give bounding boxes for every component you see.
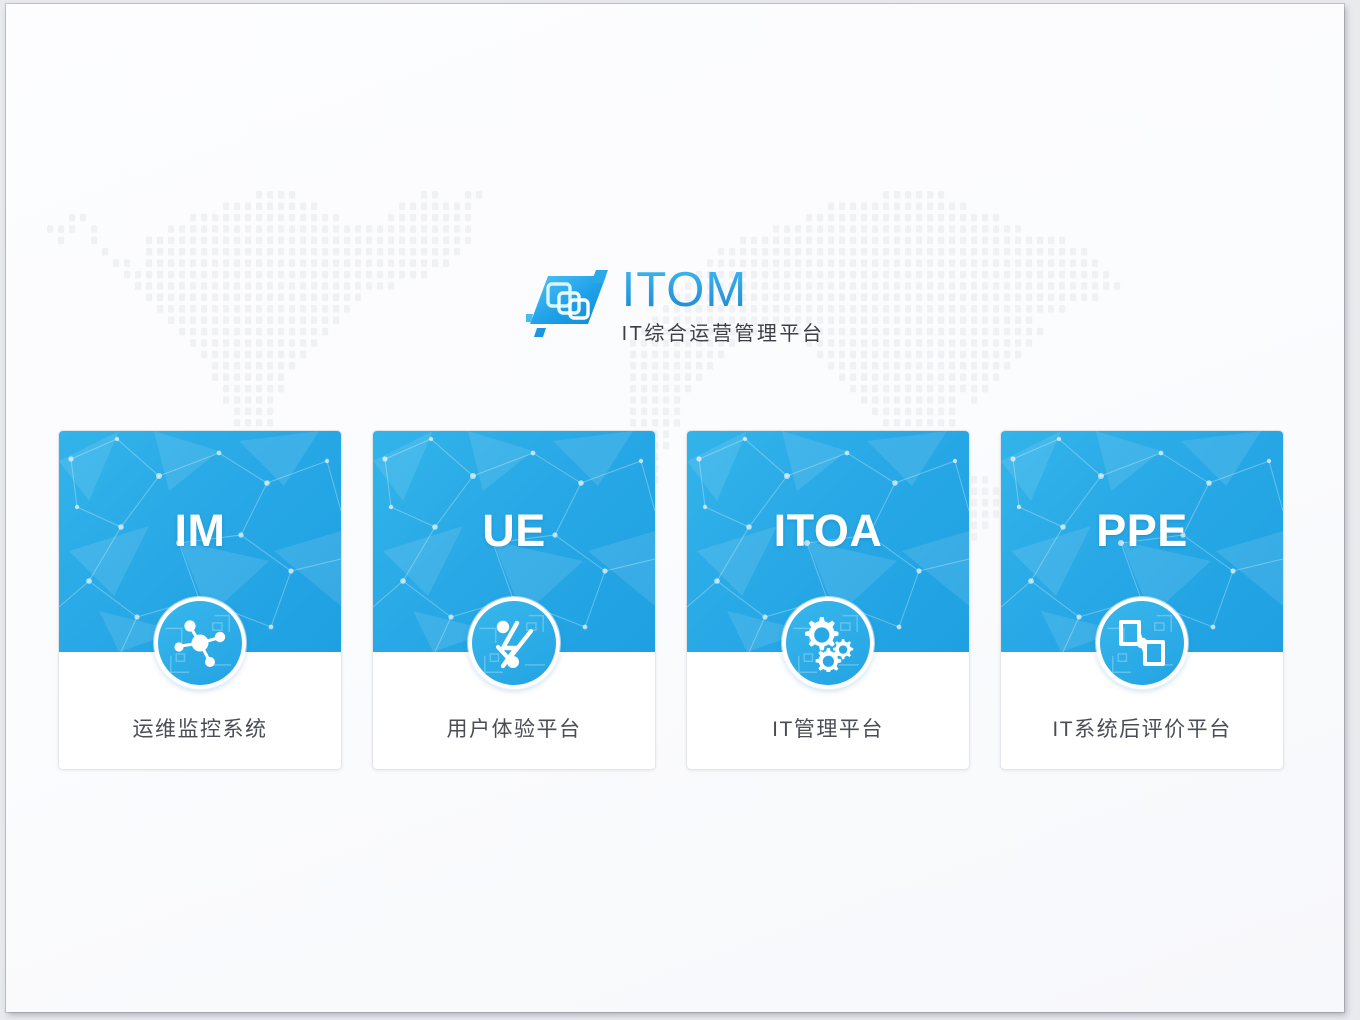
gears-icon xyxy=(782,597,874,689)
product-cards-row: IM xyxy=(58,430,1284,772)
product-card-ppe[interactable]: PPE xyxy=(1000,430,1284,770)
product-card-itoa[interactable]: ITOA xyxy=(686,430,970,770)
product-card-im[interactable]: IM xyxy=(58,430,342,770)
card-label: 运维监控系统 xyxy=(133,713,268,743)
slide-canvas: ITOM IT综合运营管理平台 xyxy=(6,4,1344,1012)
logo-title: ITOM xyxy=(622,266,748,316)
card-label: 用户体验平台 xyxy=(447,713,582,743)
overlapping-squares-logo-icon xyxy=(526,270,610,338)
card-label: IT管理平台 xyxy=(772,713,884,743)
user-experience-check-icon xyxy=(468,597,560,689)
linked-squares-icon xyxy=(1096,597,1188,689)
product-card-ue[interactable]: UE xyxy=(372,430,656,770)
brand-logo: ITOM IT综合运营管理平台 xyxy=(6,266,1344,356)
card-label: IT系统后评价平台 xyxy=(1052,713,1231,743)
logo-subtitle: IT综合运营管理平台 xyxy=(622,317,825,346)
slide-page: ITOM IT综合运营管理平台 xyxy=(6,4,1344,1012)
network-nodes-icon xyxy=(154,597,246,689)
